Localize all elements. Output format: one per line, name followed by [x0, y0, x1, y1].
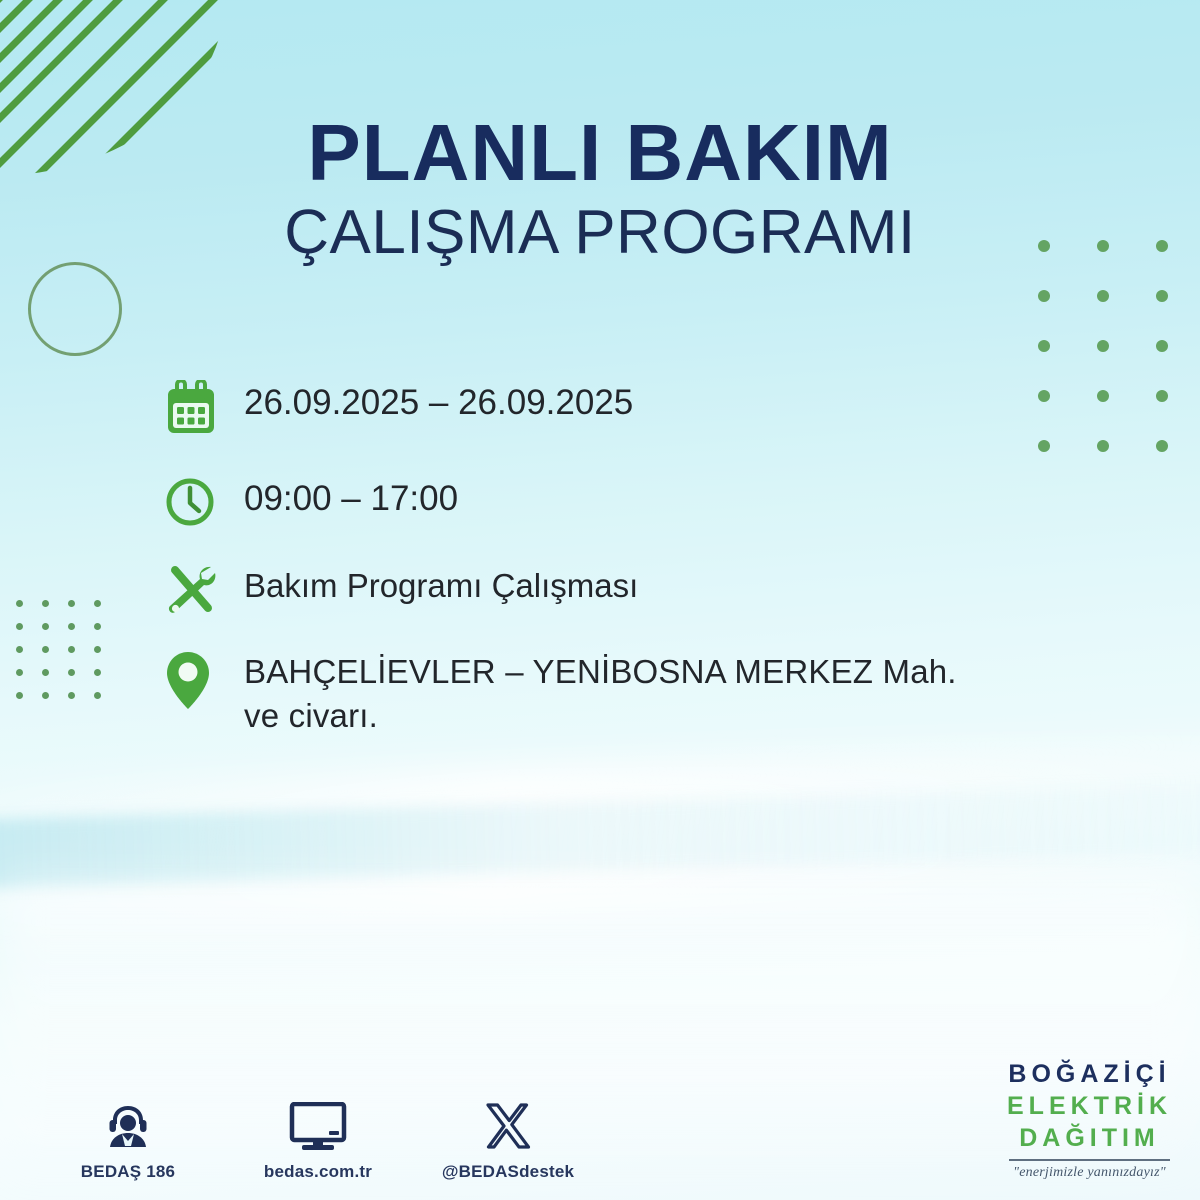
planli-bakim-poster: PLANLI BAKIM ÇALIŞMA PROGRAMI [0, 0, 1200, 1200]
monitor-icon [250, 1096, 386, 1152]
page-title: PLANLI BAKIM [0, 112, 1200, 194]
contact-website-label: bedas.com.tr [250, 1162, 386, 1182]
brand-line-dagitim: DAĞITIM [1007, 1126, 1172, 1151]
bedas-logo: BOĞAZİÇİ ELEKTRİK DAĞITIM "enerjimizle y… [1007, 1062, 1172, 1180]
tools-icon [164, 562, 244, 618]
map-pin-icon [164, 648, 244, 712]
background-highlight-band [0, 778, 1200, 892]
contact-call-center[interactable]: BEDAŞ 186 [60, 1096, 196, 1182]
work-type-value: Bakım Programı Çalışması [244, 562, 638, 608]
poster-header: PLANLI BAKIM ÇALIŞMA PROGRAMI [0, 112, 1200, 265]
brand-line-bogazici: BOĞAZİÇİ [1007, 1062, 1172, 1087]
brand-line-elektrik: ELEKTRİK [1007, 1094, 1172, 1119]
brand-divider [1009, 1159, 1170, 1161]
location-line-1: BAHÇELİEVLER – YENİBOSNA MERKEZ Mah. [244, 650, 957, 694]
date-range-value: 26.09.2025 – 26.09.2025 [244, 378, 633, 426]
contact-social-x-label: @BEDASdestek [440, 1162, 576, 1182]
support-agent-icon [60, 1096, 196, 1152]
time-range-value: 09:00 – 17:00 [244, 474, 458, 522]
location-line-2: ve civarı. [244, 694, 957, 738]
poster-footer: BEDAŞ 186 bedas.com.tr [0, 1030, 1200, 1200]
detail-row-time: 09:00 – 17:00 [164, 474, 1064, 528]
detail-row-location: BAHÇELİEVLER – YENİBOSNA MERKEZ Mah. ve … [164, 648, 1064, 737]
contact-website[interactable]: bedas.com.tr [250, 1096, 386, 1182]
brand-tagline: "enerjimizle yanınızdayız" [1007, 1166, 1172, 1180]
detail-row-work: Bakım Programı Çalışması [164, 562, 1064, 618]
contact-call-center-label: BEDAŞ 186 [60, 1162, 196, 1182]
circle-outline-decoration [28, 262, 122, 356]
contact-social-x[interactable]: @BEDASdestek [440, 1096, 576, 1182]
detail-row-date: 26.09.2025 – 26.09.2025 [164, 378, 1064, 436]
contact-channels: BEDAŞ 186 bedas.com.tr [60, 1096, 576, 1182]
location-value: BAHÇELİEVLER – YENİBOSNA MERKEZ Mah. ve … [244, 648, 957, 737]
dot-grid-left-decoration [16, 600, 101, 699]
page-subtitle: ÇALIŞMA PROGRAMI [0, 200, 1200, 265]
maintenance-details: 26.09.2025 – 26.09.2025 09:00 – 17:00 [164, 378, 1064, 761]
calendar-icon [164, 378, 244, 436]
background-sheen-band [0, 730, 1200, 940]
x-twitter-icon [440, 1096, 576, 1152]
clock-icon [164, 474, 244, 528]
